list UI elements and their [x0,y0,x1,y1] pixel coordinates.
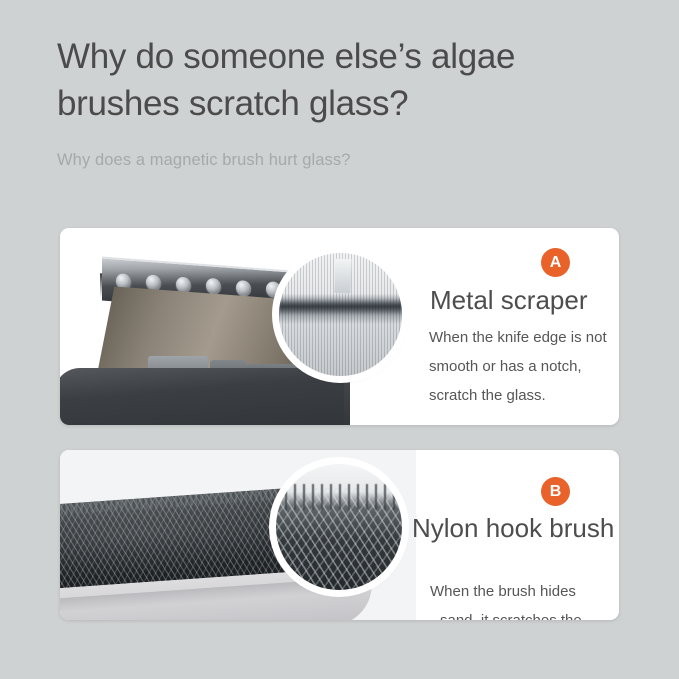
feature-card-nylon-hook-brush: B Nylon hook brush When the brush hides … [60,450,619,620]
blade-scratch-streak [279,299,402,315]
promo-page: Why do someone else’s algae brushes scra… [0,0,679,679]
page-title: Why do someone else’s algae brushes scra… [57,33,627,127]
card-b-image [60,450,416,620]
card-badge-b: B [541,477,570,506]
card-b-title: Nylon hook brush [412,513,614,543]
nylon-hook-brush-photo [60,450,416,620]
inset-b-hook-tips [276,484,402,510]
card-b-description-line2: sand, it scratches the glass. [440,606,619,620]
blade-hole-icon [236,280,251,296]
card-badge-a: A [541,248,570,277]
blade-notch [334,259,351,294]
brush-body-shell [60,368,344,425]
card-a-image [60,228,416,425]
magnifier-inset-blade [279,253,402,376]
card-b-description: When the brush hides sand, it scratches … [430,548,619,620]
magnifier-inset-bristles [276,464,402,590]
metal-scraper-photo [60,228,416,425]
card-b-description-line1: When the brush hides [430,583,576,600]
blade-hole-icon [206,278,221,294]
card-a-description: When the knife edge is not smooth or has… [429,323,607,410]
card-a-title: Metal scraper [430,285,588,315]
card-a-body: A Metal scraper When the knife edge is n… [416,228,619,425]
page-header: Why do someone else’s algae brushes scra… [57,33,627,170]
feature-card-metal-scraper: A Metal scraper When the knife edge is n… [60,228,619,425]
page-subtitle: Why does a magnetic brush hurt glass? [57,151,627,170]
card-b-body: B Nylon hook brush When the brush hides … [416,450,619,620]
